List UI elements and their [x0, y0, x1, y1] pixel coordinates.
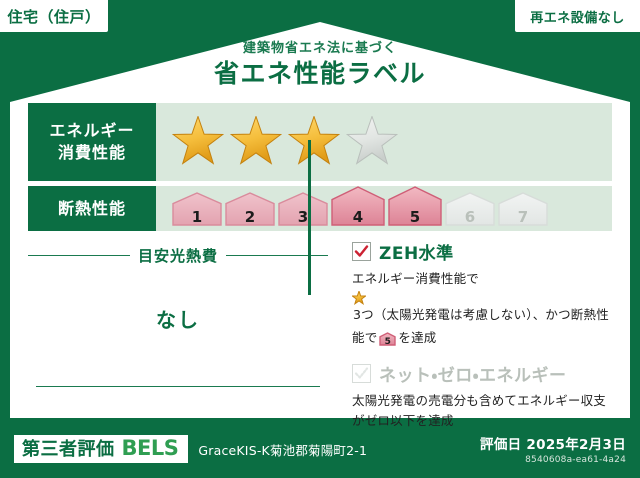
- utility-cost-title: 目安光熱費: [138, 245, 218, 266]
- badge-building-type: 住宅（住戸）: [0, 0, 108, 32]
- star-4: [346, 116, 398, 168]
- inline-insulation-badge: 5: [379, 332, 396, 351]
- insulation-level-4: 4: [331, 186, 385, 230]
- evaluation-info: 評価日 2025年2月3日 8540608a-ea61-4a24: [480, 433, 626, 465]
- insulation-label-text: 断熱性能: [58, 198, 126, 220]
- bels-logo-jp: 第三者評価: [22, 441, 115, 459]
- cost-rule-bottom: [36, 386, 320, 387]
- insulation-level-3: 3: [278, 192, 328, 230]
- footer-bar: 第三者評価 BELS GraceKIS-K菊池郡菊陽町2-1 評価日 2025年…: [0, 420, 640, 478]
- bels-logo: 第三者評価 BELS: [14, 435, 188, 463]
- zeh-desc-part1: エネルギー消費性能で: [352, 271, 479, 286]
- utility-cost-header: 目安光熱費: [28, 245, 328, 266]
- insulation-performance-label-box: 断熱性能: [28, 186, 156, 231]
- energy-stars-area: [156, 103, 612, 181]
- energy-performance-row: エネルギー 消費性能: [28, 103, 612, 181]
- cost-rule-right: [226, 255, 328, 256]
- content-card: エネルギー 消費性能 断熱性能 1234567 目安光熱費: [28, 103, 612, 408]
- star-2: [230, 116, 282, 168]
- insulation-level-scale: 1234567: [172, 186, 548, 232]
- bels-logo-en: BELS: [122, 438, 179, 459]
- energy-performance-label: 住宅（住戸） 再エネ設備なし 建築物省エネ法に基づく 省エネ性能ラベル エネルギ…: [0, 0, 640, 478]
- star-3: [288, 116, 340, 168]
- insulation-level-2: 2: [225, 192, 275, 230]
- zeh-standard-header: ZEH水準: [352, 239, 612, 264]
- column-divider: [308, 140, 311, 295]
- utility-cost-column: 目安光熱費 なし: [28, 239, 338, 407]
- property-address: GraceKIS-K菊池郡菊陽町2-1: [198, 440, 367, 459]
- insulation-level-1: 1: [172, 192, 222, 230]
- evaluation-date: 評価日 2025年2月3日: [480, 433, 626, 453]
- insulation-performance-row: 断熱性能 1234567: [28, 186, 612, 231]
- energy-label-line1: エネルギー: [49, 120, 134, 142]
- star-1: [172, 116, 224, 168]
- net-zero-checkbox-icon: [352, 364, 371, 383]
- utility-cost-value: なし: [28, 304, 328, 333]
- evaluation-id: 8540608a-ea61-4a24: [480, 455, 626, 465]
- star-rating: [172, 116, 398, 168]
- badge-renewable-equipment: 再エネ設備なし: [515, 0, 640, 32]
- zeh-column: ZEH水準 エネルギー消費性能で3つ（太陽光発電は考慮しない）、かつ断熱性能で5…: [338, 239, 612, 407]
- net-zero-energy-header: ネット・ゼロ・エネルギー: [352, 361, 612, 386]
- zeh-standard-description: エネルギー消費性能で3つ（太陽光発電は考慮しない）、かつ断熱性能で5を達成: [352, 269, 612, 351]
- zeh-desc-part3: を達成: [398, 330, 436, 345]
- energy-label-line2: 消費性能: [58, 142, 126, 164]
- cost-rule-left: [28, 255, 130, 256]
- insulation-scale-area: 1234567: [156, 186, 612, 231]
- insulation-level-6: 6: [445, 192, 495, 230]
- net-zero-energy-title: ネット・ゼロ・エネルギー: [379, 361, 567, 386]
- inline-star-icon: [352, 291, 612, 305]
- insulation-level-5: 5: [388, 186, 442, 230]
- zeh-standard-entry: ZEH水準 エネルギー消費性能で3つ（太陽光発電は考慮しない）、かつ断熱性能で5…: [352, 239, 612, 351]
- zeh-checkbox-icon: [352, 242, 371, 261]
- energy-performance-label-box: エネルギー 消費性能: [28, 103, 156, 181]
- zeh-standard-title: ZEH水準: [379, 239, 454, 264]
- insulation-level-7: 7: [498, 192, 548, 230]
- lower-section: 目安光熱費 なし ZEH水準 エネルギー消費性能で3つ（太陽光発電は考慮しない）…: [28, 239, 612, 407]
